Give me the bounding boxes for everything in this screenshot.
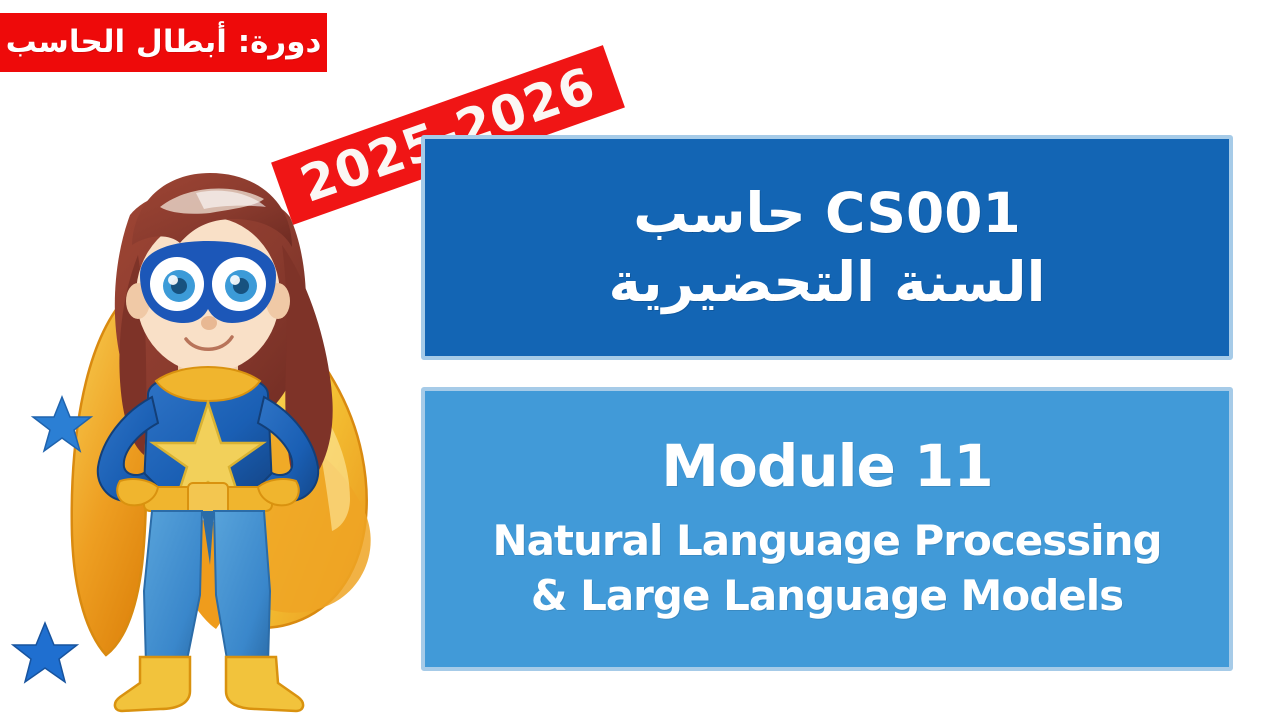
nose — [201, 316, 217, 330]
module-subtitle-line-2: & Large Language Models — [531, 568, 1123, 623]
course-banner-label: دورة: أبطال الحاسب — [6, 27, 322, 58]
course-code-line: CS001 حاسب — [633, 181, 1021, 246]
module-title: Module 11 — [661, 437, 993, 495]
course-banner: دورة: أبطال الحاسب — [0, 13, 327, 72]
module-subtitle-line-1: Natural Language Processing — [492, 513, 1161, 568]
boots — [115, 657, 303, 711]
slide-canvas: دورة: أبطال الحاسب 2025-2026 CS001 حاسب … — [0, 0, 1280, 720]
course-info-panel: CS001 حاسب السنة التحضيرية — [421, 135, 1233, 360]
module-info-panel: Module 11 Natural Language Processing & … — [421, 387, 1233, 671]
preparatory-year-line: السنة التحضيرية — [609, 250, 1046, 315]
decor-star-lower-icon — [13, 623, 77, 682]
